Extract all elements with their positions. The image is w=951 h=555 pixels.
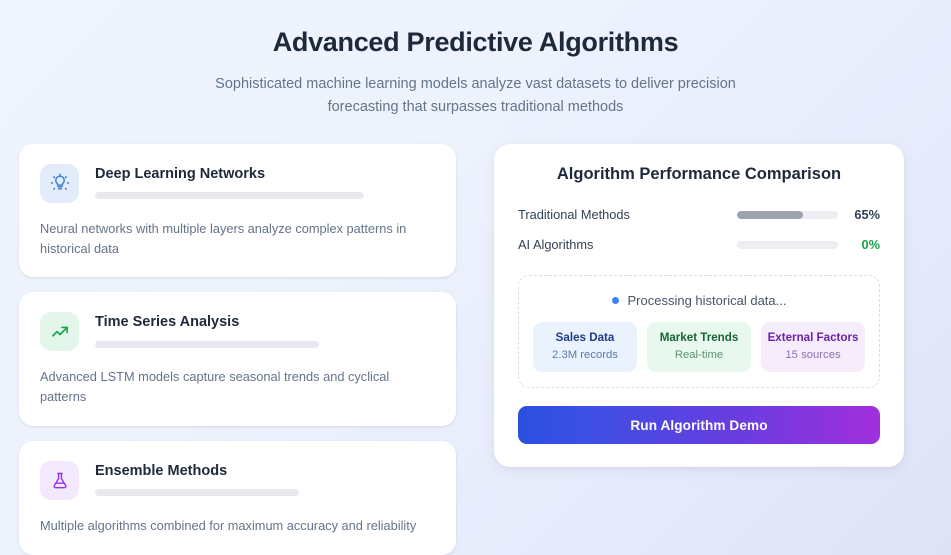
feature-card-ensemble-methods[interactable]: Ensemble Methods Multiple algorithms com…: [19, 441, 456, 555]
panel-title: Algorithm Performance Comparison: [518, 165, 880, 184]
processing-status-text: Processing historical data...: [628, 293, 787, 308]
feature-card-deep-learning-networks[interactable]: Deep Learning Networks Neural networks w…: [19, 144, 456, 278]
chip-title: External Factors: [765, 331, 861, 345]
metric-progress-fill: [737, 211, 803, 219]
metric-value: 0%: [838, 237, 880, 252]
algorithm-performance-panel: Algorithm Performance Comparison Traditi…: [494, 144, 904, 467]
feature-card-text: Deep Learning Networks: [95, 164, 435, 199]
feature-card-title: Deep Learning Networks: [95, 166, 435, 183]
metric-label: Traditional Methods: [518, 207, 737, 222]
feature-progress-placeholder: [95, 341, 319, 348]
chip-title: Sales Data: [537, 331, 633, 345]
feature-card-description: Multiple algorithms combined for maximum…: [40, 516, 435, 536]
run-algorithm-demo-button[interactable]: Run Algorithm Demo: [518, 406, 880, 444]
feature-progress-placeholder: [95, 489, 299, 496]
chip-subtitle: 15 sources: [765, 349, 861, 363]
feature-card-title: Time Series Analysis: [95, 314, 435, 331]
feature-card-header: Deep Learning Networks: [40, 164, 435, 203]
processing-status: Processing historical data...: [533, 293, 865, 308]
feature-card-text: Time Series Analysis: [95, 312, 435, 347]
trending-up-icon: [40, 312, 79, 351]
chip-subtitle: Real-time: [651, 349, 747, 363]
data-source-chip-sales-data[interactable]: Sales Data 2.3M records: [533, 322, 637, 372]
metric-progress-track: [737, 241, 838, 249]
feature-card-title: Ensemble Methods: [95, 463, 435, 480]
metric-label: AI Algorithms: [518, 237, 737, 252]
status-dot-icon: [612, 297, 619, 304]
flask-icon: [40, 461, 79, 500]
feature-card-header: Time Series Analysis: [40, 312, 435, 351]
feature-card-description: Advanced LSTM models capture seasonal tr…: [40, 367, 435, 407]
data-source-chip-market-trends[interactable]: Market Trends Real-time: [647, 322, 751, 372]
page-subtitle: Sophisticated machine learning models an…: [186, 73, 766, 120]
data-source-chip-list: Sales Data 2.3M records Market Trends Re…: [533, 322, 865, 372]
feature-card-list: Deep Learning Networks Neural networks w…: [19, 144, 456, 555]
metric-row-ai-algorithms: AI Algorithms 0%: [518, 232, 880, 258]
feature-card-description: Neural networks with multiple layers ana…: [40, 219, 435, 259]
processing-panel: Processing historical data... Sales Data…: [518, 275, 880, 388]
feature-progress-placeholder: [95, 192, 364, 199]
lightbulb-icon: [40, 164, 79, 203]
feature-card-time-series-analysis[interactable]: Time Series Analysis Advanced LSTM model…: [19, 292, 456, 426]
page-header: Advanced Predictive Algorithms Sophistic…: [0, 0, 951, 120]
chip-title: Market Trends: [651, 331, 747, 345]
main-content: Deep Learning Networks Neural networks w…: [0, 120, 951, 555]
metric-row-traditional-methods: Traditional Methods 65%: [518, 202, 880, 228]
chip-subtitle: 2.3M records: [537, 349, 633, 363]
metric-progress-track: [737, 211, 838, 219]
data-source-chip-external-factors[interactable]: External Factors 15 sources: [761, 322, 865, 372]
page-title: Advanced Predictive Algorithms: [0, 26, 951, 60]
feature-card-text: Ensemble Methods: [95, 461, 435, 496]
feature-card-header: Ensemble Methods: [40, 461, 435, 500]
metric-value: 65%: [838, 207, 880, 222]
